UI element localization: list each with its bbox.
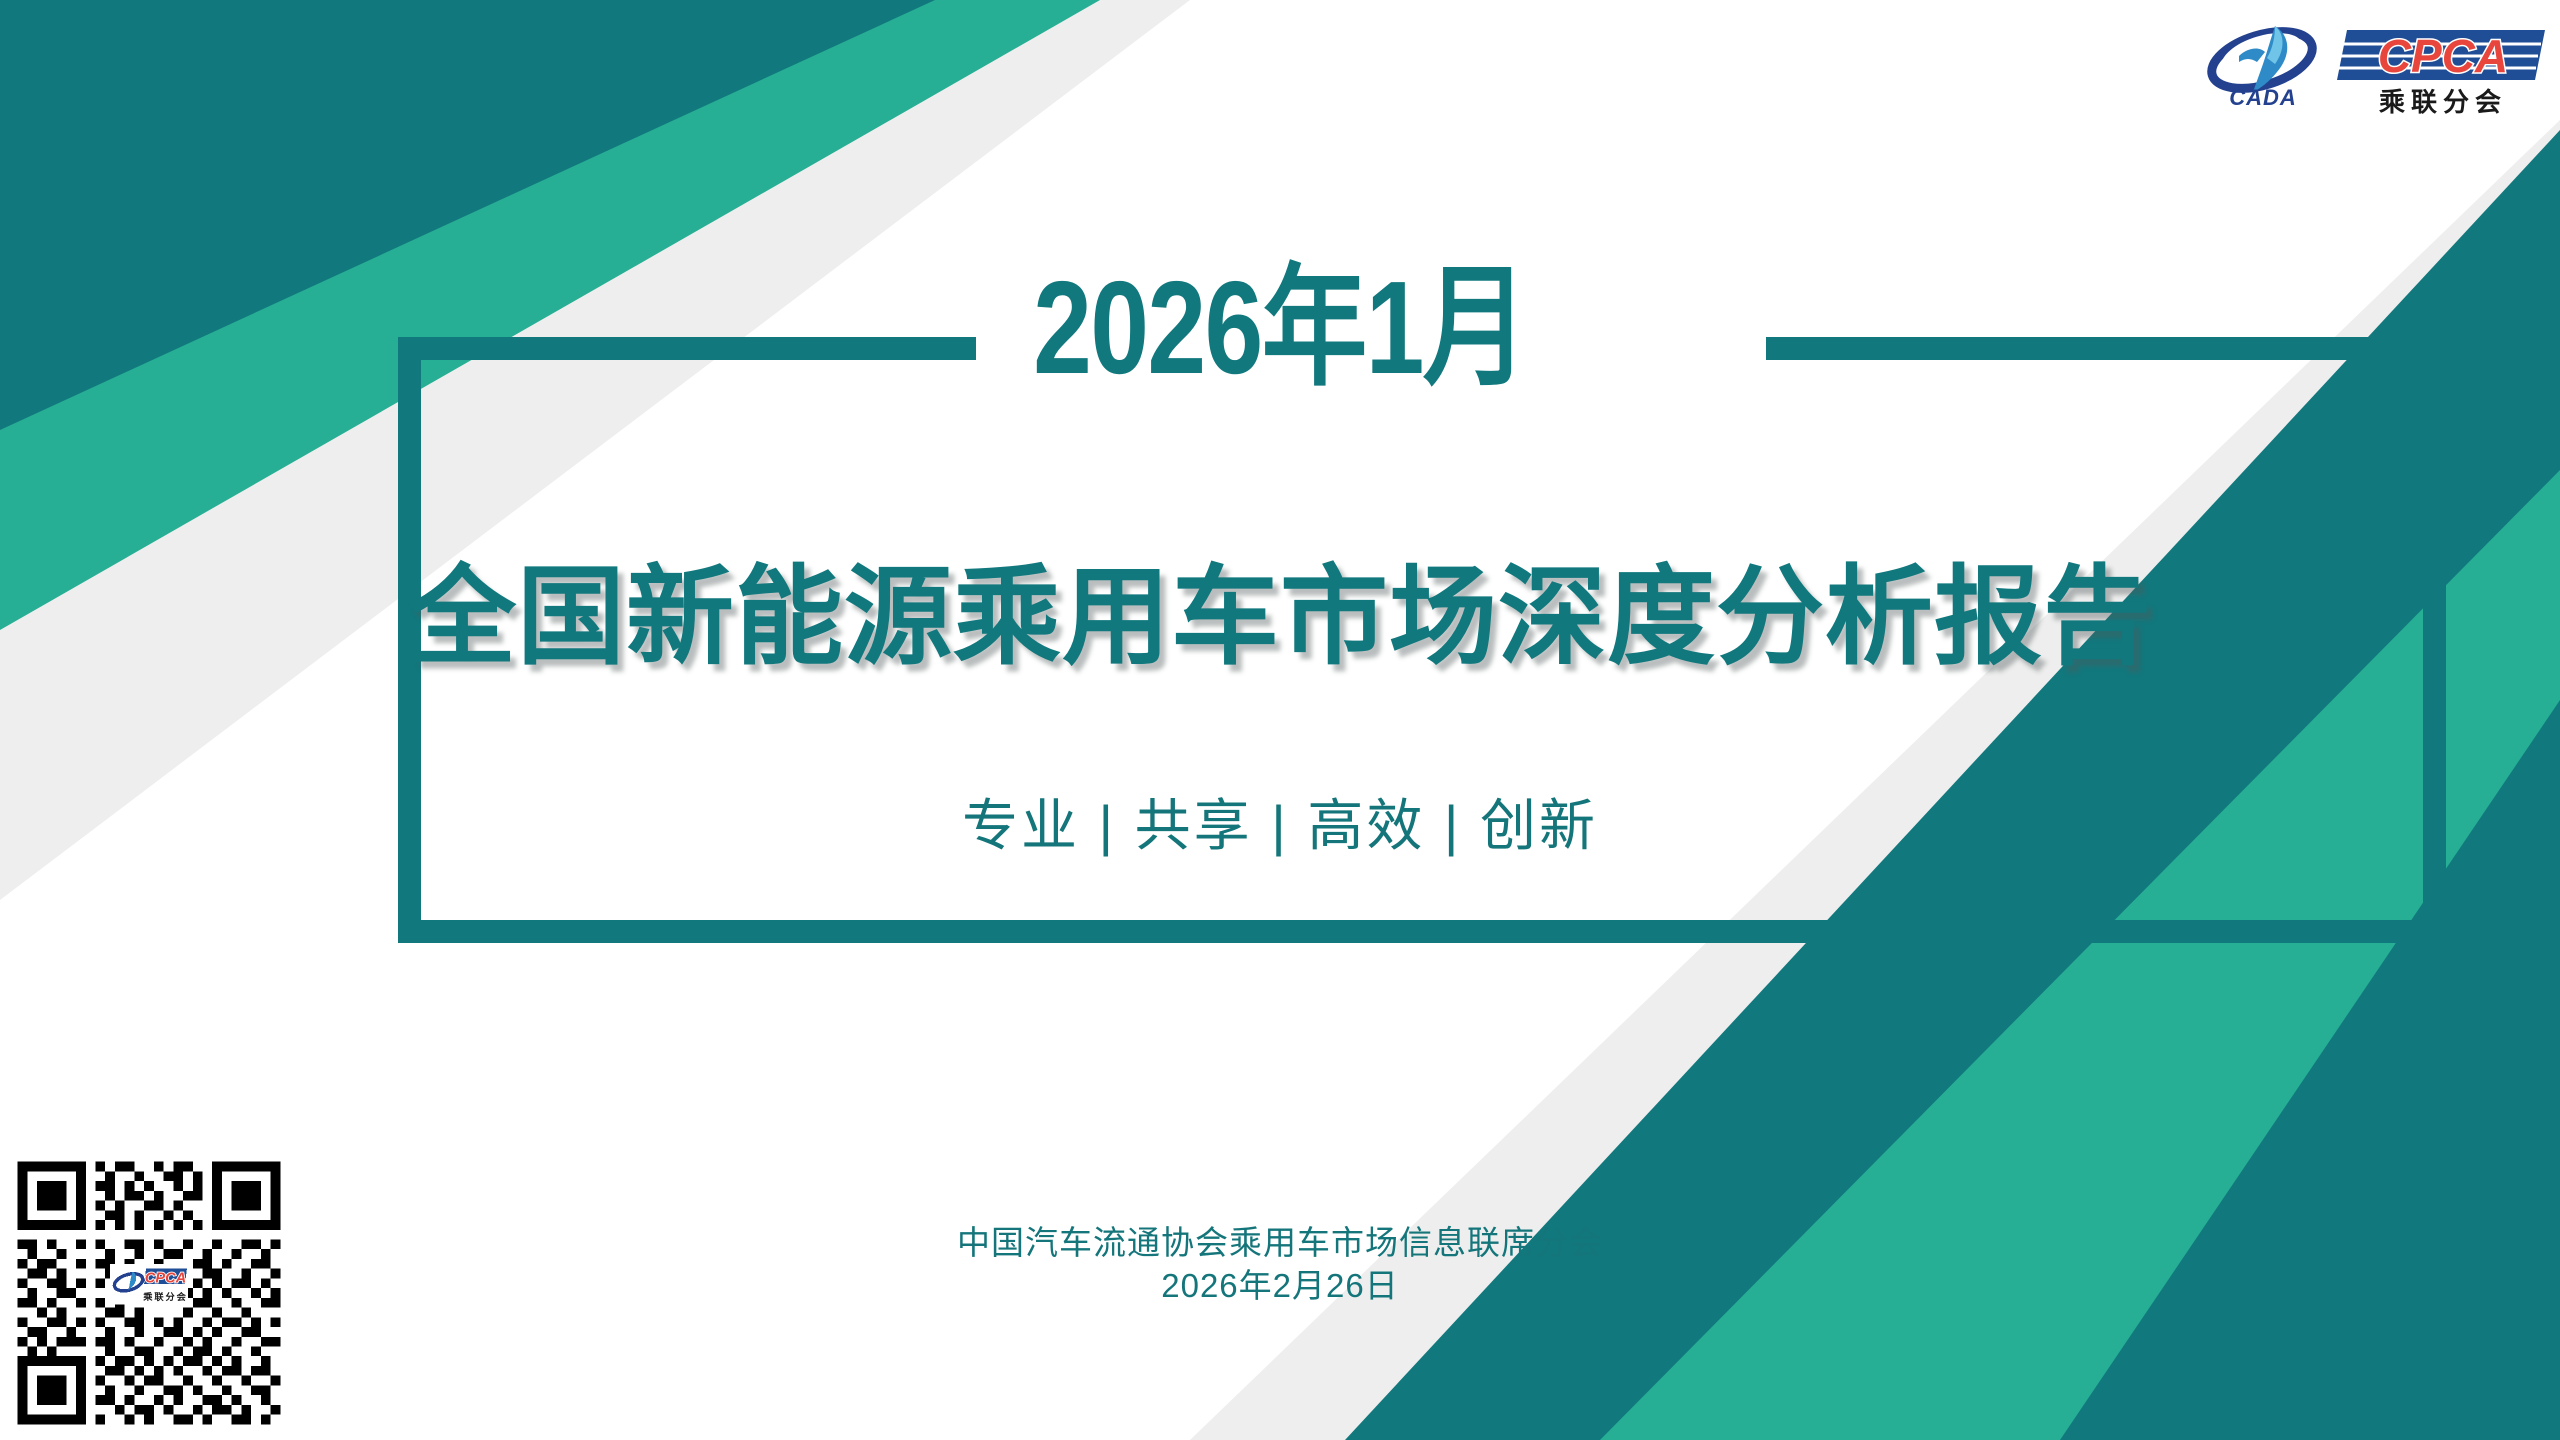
qr-center-logo: CPCA 乘联分会 <box>110 1264 188 1305</box>
cpca-logo: CADA CPCA 乘联分会 <box>2205 12 2545 117</box>
cpca-chinese-name: 乘联分会 <box>2378 88 2507 117</box>
cpca-banner: CPCA <box>2337 30 2545 82</box>
footer-publish-date: 2026年2月26日 <box>0 1265 2560 1308</box>
qr-logo-acronym: CPCA <box>145 1270 186 1286</box>
footer-organization: 中国汽车流通协会乘用车市场信息联席分会 <box>0 1222 2560 1265</box>
qr-logo-chinese: 乘联分会 <box>142 1291 188 1303</box>
frame-border-bottom <box>398 920 2446 943</box>
report-tagline: 专业 | 共享 | 高效 | 创新 <box>0 798 2560 854</box>
qr-code[interactable]: CPCA 乘联分会 <box>8 1152 290 1434</box>
cada-wordmark: CADA <box>2229 85 2297 110</box>
footer-block: 中国汽车流通协会乘用车市场信息联席分会 2026年2月26日 <box>0 1222 2560 1308</box>
cpca-acronym: CPCA <box>2378 30 2508 82</box>
cada-emblem-icon: CADA <box>2205 21 2319 110</box>
report-main-title: 全国新能源乘用车市场深度分析报告 <box>0 555 2560 679</box>
report-date-heading: 2026年1月 <box>256 262 2304 394</box>
presentation-title-slide: 2026年1月 全国新能源乘用车市场深度分析报告 专业 | 共享 | 高效 | … <box>0 0 2560 1440</box>
